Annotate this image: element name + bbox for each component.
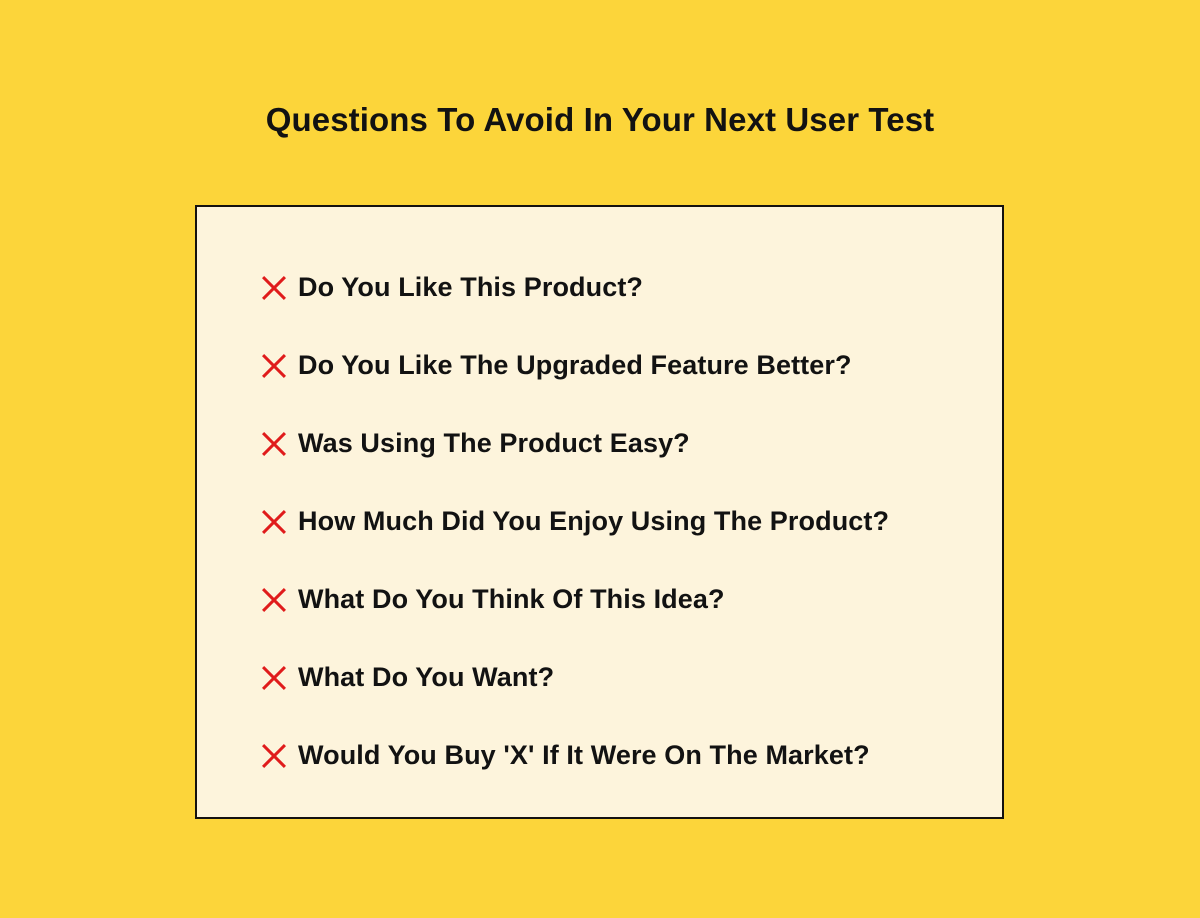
page-title: Questions To Avoid In Your Next User Tes… <box>0 100 1200 140</box>
red-cross-icon <box>259 429 289 459</box>
question-text: Do You Like The Upgraded Feature Better? <box>298 350 852 381</box>
red-cross-icon <box>259 663 289 693</box>
list-item: How Much Did You Enjoy Using The Product… <box>259 483 982 561</box>
red-cross-icon <box>259 585 289 615</box>
question-text: What Do You Want? <box>298 662 554 693</box>
questions-list: Do You Like This Product? Do You Like Th… <box>259 249 982 795</box>
list-item: Do You Like This Product? <box>259 249 982 327</box>
slide-canvas: Questions To Avoid In Your Next User Tes… <box>0 0 1200 918</box>
questions-card: Do You Like This Product? Do You Like Th… <box>195 205 1004 819</box>
red-cross-icon <box>259 507 289 537</box>
list-item: Would You Buy 'X' If It Were On The Mark… <box>259 717 982 795</box>
question-text: What Do You Think Of This Idea? <box>298 584 725 615</box>
question-text: Would You Buy 'X' If It Were On The Mark… <box>298 740 870 771</box>
question-text: How Much Did You Enjoy Using The Product… <box>298 506 889 537</box>
list-item: Was Using The Product Easy? <box>259 405 982 483</box>
question-text: Was Using The Product Easy? <box>298 428 690 459</box>
red-cross-icon <box>259 273 289 303</box>
list-item: Do You Like The Upgraded Feature Better? <box>259 327 982 405</box>
red-cross-icon <box>259 351 289 381</box>
list-item: What Do You Think Of This Idea? <box>259 561 982 639</box>
list-item: What Do You Want? <box>259 639 982 717</box>
question-text: Do You Like This Product? <box>298 272 643 303</box>
red-cross-icon <box>259 741 289 771</box>
